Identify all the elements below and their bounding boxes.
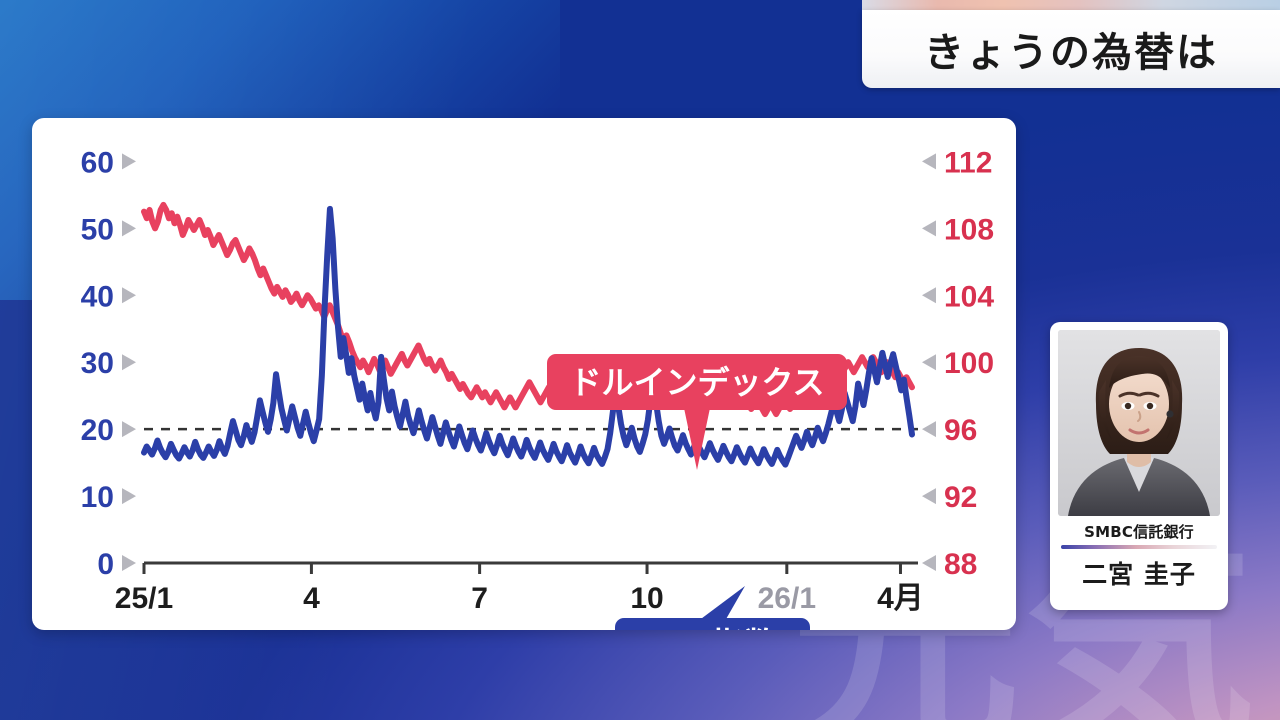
right-axis-tick-marker-icon [922, 354, 936, 370]
callout-pointer [700, 586, 746, 620]
left-axis-tick-0: 0 [97, 548, 114, 581]
dual-axis-line-chart: 605040302010011210810410096928825/147102… [32, 118, 1016, 630]
left-axis-tick-marker-icon [122, 421, 136, 437]
right-axis-tick-marker-icon [922, 287, 936, 303]
right-axis-tick-marker-icon [922, 555, 936, 571]
title-box: きょうの為替は [862, 10, 1280, 88]
right-axis-tick-marker-icon [922, 153, 936, 169]
commentator-organization: SMBC信託銀行 [1058, 521, 1220, 542]
left-axis-tick-marker-icon [122, 153, 136, 169]
left-axis-tick-marker-icon [122, 488, 136, 504]
left-axis-tick-marker-icon [122, 555, 136, 571]
card-divider [1061, 545, 1217, 549]
left-axis-tick-40: 40 [81, 280, 114, 313]
x-axis-label-4: 26/1 [758, 582, 816, 615]
left-axis-tick-marker-icon [122, 354, 136, 370]
left-axis-tick-marker-icon [122, 287, 136, 303]
left-axis-tick-marker-icon [122, 220, 136, 236]
x-axis-label-1: 4 [303, 582, 320, 615]
commentator-card: SMBC信託銀行 二宮 圭子 [1050, 322, 1228, 610]
title-banner: きょうの為替は [862, 0, 1280, 88]
chart-area: 605040302010011210810410096928825/147102… [32, 118, 1016, 630]
right-axis-tick-marker-icon [922, 488, 936, 504]
callout-label: VIX指数 [648, 625, 777, 630]
left-axis-tick-60: 60 [81, 146, 114, 179]
screen-root: 元気 きょうの為替は 60504030201001121081041009692… [0, 0, 1280, 720]
right-axis-tick-marker-icon [922, 421, 936, 437]
x-axis-label-0: 25/1 [115, 582, 173, 615]
right-axis-tick-88: 88 [944, 548, 977, 581]
right-axis-tick-marker-icon [922, 220, 936, 236]
right-axis-tick-92: 92 [944, 481, 977, 514]
series-line-vix [144, 209, 912, 465]
left-axis-tick-20: 20 [81, 414, 114, 447]
page-title: きょうの為替は [924, 20, 1218, 78]
callout-label: ドルインデックス [569, 364, 824, 402]
chart-panel: 605040302010011210810410096928825/147102… [32, 118, 1016, 630]
right-axis-tick-108: 108 [944, 213, 994, 246]
right-axis-tick-100: 100 [944, 347, 994, 380]
commentator-name: 二宮 圭子 [1058, 555, 1220, 591]
left-axis-tick-50: 50 [81, 213, 114, 246]
left-axis-tick-10: 10 [81, 481, 114, 514]
x-axis-label-3: 10 [630, 582, 663, 615]
left-axis-tick-30: 30 [81, 347, 114, 380]
x-axis-label-2: 7 [471, 582, 488, 615]
portrait-photo [1058, 330, 1220, 516]
avatar [1058, 330, 1220, 516]
title-accent-strip [862, 0, 1280, 10]
callout-pointer [684, 408, 710, 470]
x-axis-label-5: 4月 [877, 582, 924, 615]
right-axis-tick-112: 112 [944, 146, 992, 179]
right-axis-tick-96: 96 [944, 414, 977, 447]
right-axis-tick-104: 104 [944, 280, 994, 313]
